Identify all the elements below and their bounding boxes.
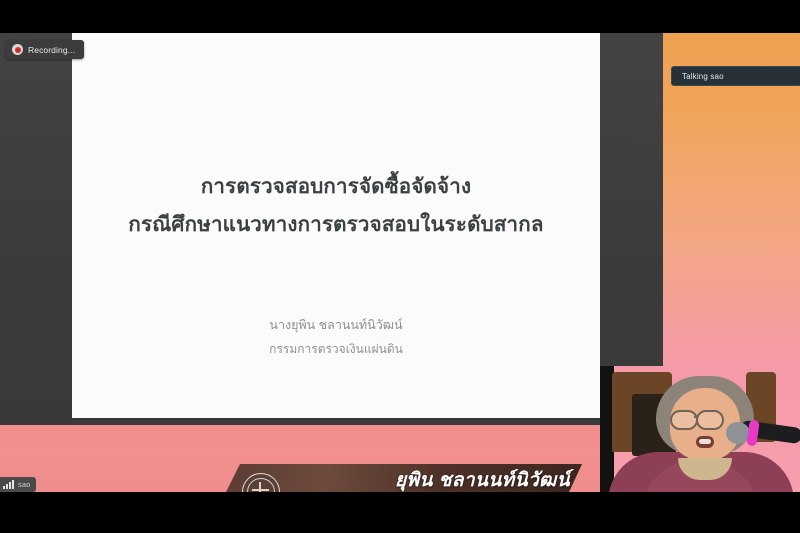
eyeglass-right-icon	[696, 410, 724, 430]
slide-title: การตรวจสอบการจัดซื้อจัดจ้าง กรณีศึกษาแนว…	[72, 168, 600, 244]
slide-presenter-role: กรรมการตรวจเงินแผ่นดิน	[72, 337, 600, 361]
screen-share-surface[interactable]: การตรวจสอบการจัดซื้อจัดจ้าง กรณีศึกษาแนว…	[0, 33, 663, 425]
recording-indicator[interactable]: Recording...	[5, 40, 84, 59]
record-icon	[12, 44, 23, 55]
recording-label: Recording...	[28, 45, 75, 55]
slide-title-line-2: กรณีศึกษาแนวทางการตรวจสอบในระดับสากล	[72, 206, 600, 244]
letterbox-top	[0, 0, 800, 33]
slide-title-line-1: การตรวจสอบการจัดซื้อจัดจ้าง	[72, 168, 600, 206]
active-speaker-label: Talking sao	[682, 72, 724, 81]
letterbox-bottom	[0, 492, 800, 533]
speaker-teeth	[699, 439, 711, 444]
eyeglass-left-icon	[670, 410, 698, 430]
lower-third-name: ยุพิน ชลานนท์นิวัฒน์	[300, 470, 570, 492]
signal-bars-icon	[3, 480, 14, 489]
slide-presenter-block: นางยุพิน ชลานนท์นิวัฒน์ กรรมการตรวจเงินแ…	[72, 313, 600, 361]
presentation-slide[interactable]: การตรวจสอบการจัดซื้อจัดจ้าง กรณีศึกษาแนว…	[72, 33, 600, 418]
meeting-stage: การตรวจสอบการจัดซื้อจัดจ้าง กรณีศึกษาแนว…	[0, 33, 800, 492]
meeting-screen-share-view: การตรวจสอบการจัดซื้อจัดจ้าง กรณีศึกษาแนว…	[0, 0, 800, 533]
network-quality-indicator[interactable]: sao	[0, 477, 36, 492]
active-speaker-indicator: Talking sao	[671, 66, 800, 86]
eyeglass-bridge	[694, 416, 698, 418]
slide-presenter-name: นางยุพิน ชลานนท์นิวัฒน์	[72, 313, 600, 337]
signal-label: sao	[18, 480, 30, 489]
